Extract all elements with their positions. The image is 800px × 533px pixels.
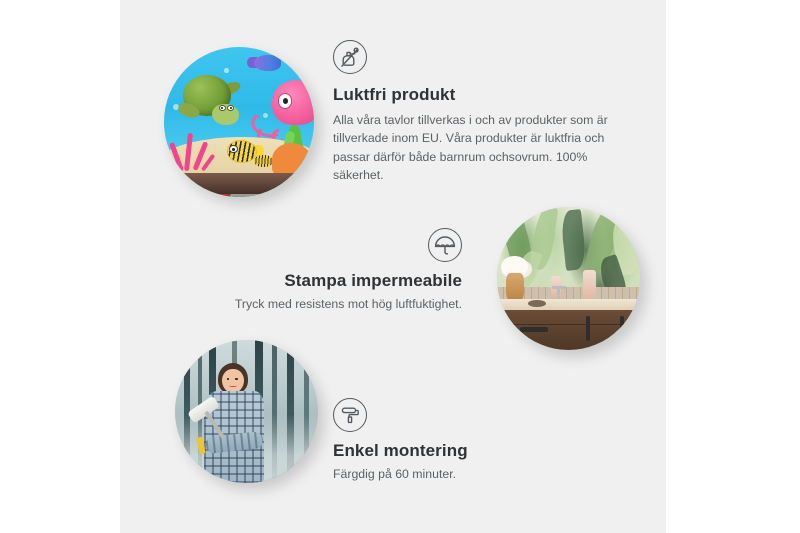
blue-fish [254,55,281,72]
feature-waterproof-title: Stampa impermeabile [200,270,462,291]
yellow-striped-fish [227,140,257,163]
sea-turtle [182,74,248,131]
screenshot-canvas: Luktfri produkt Alla våra tavlor tillver… [0,0,800,533]
feature-easy-install-title: Enkel montering [333,440,613,461]
feature-waterproof: Stampa impermeabile Tryck med resistens … [200,228,462,313]
no-odor-spray-bottle-icon [333,40,367,74]
feature-waterproof-body: Tryck med resistens mot hög luftfuktighe… [200,295,462,313]
orange-coral [272,143,311,176]
feature-easy-install-body: Färgdig på 60 minuter. [333,465,613,483]
feature-odorless-title: Luktfri produkt [333,84,633,105]
person-face [222,369,243,393]
aquarium-scene-art [164,47,314,197]
umbrella-icon [428,228,462,262]
product-photo-aquarium[interactable] [164,47,314,197]
product-photo-bathroom[interactable] [497,207,640,350]
feature-odorless: Luktfri produkt Alla våra tavlor tillver… [333,40,633,184]
bathroom-scene-art [497,207,640,350]
paint-roller-icon [333,398,367,432]
small-fish [254,155,272,167]
feature-easy-install: Enkel montering Färgdig på 60 minuter. [333,398,613,483]
feature-odorless-body: Alla våra tavlor tillverkas i och av pro… [333,111,633,184]
installer-scene-art [175,340,318,483]
product-photo-installer[interactable] [175,340,318,483]
